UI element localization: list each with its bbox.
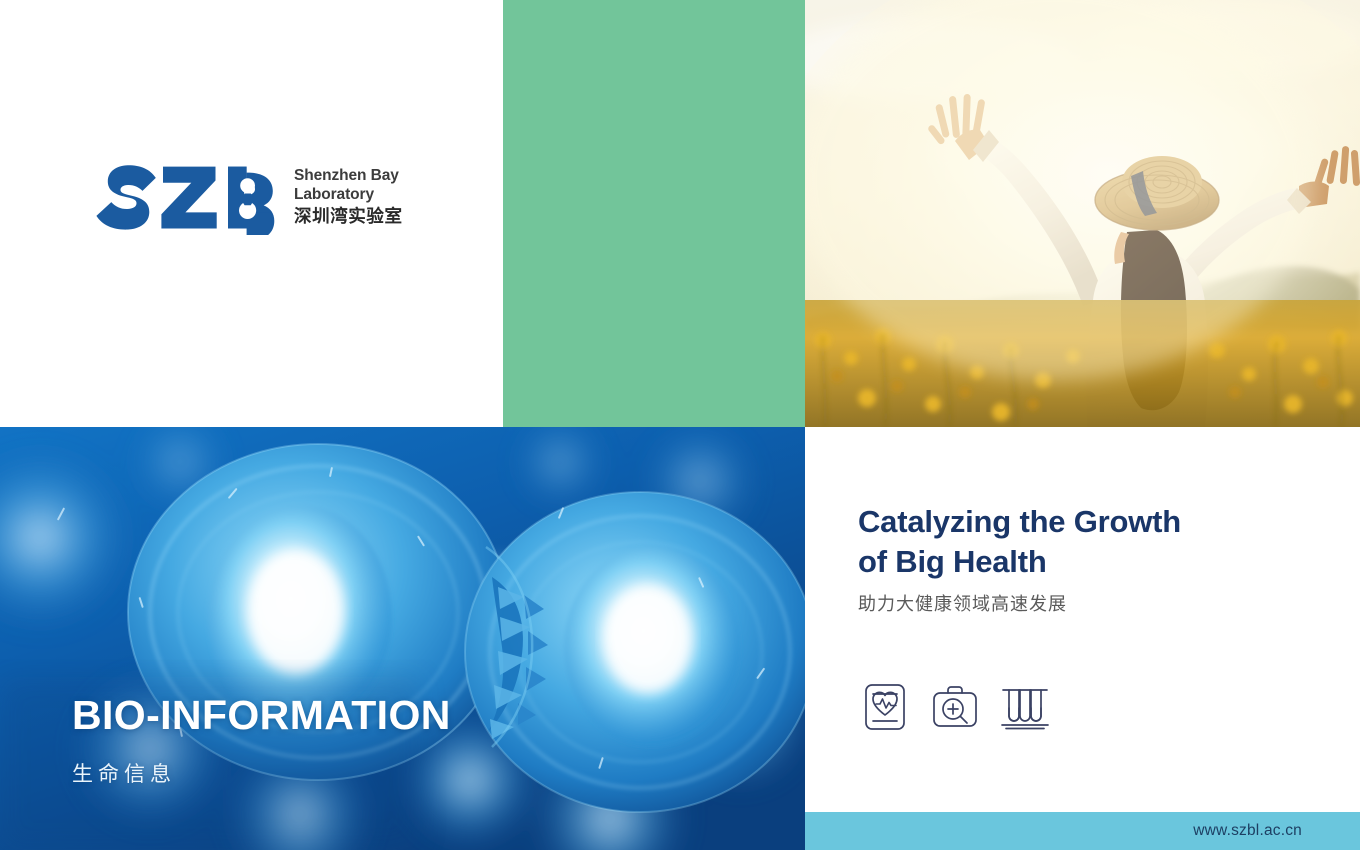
cells-subtitle: 生命信息	[72, 758, 451, 788]
service-icon-row	[858, 680, 1052, 734]
headline-line-2: of Big Health	[858, 542, 1328, 582]
headline-line-1: Catalyzing the Growth	[858, 504, 1181, 539]
subheadline: 助力大健康领域高速发展	[858, 590, 1067, 616]
health-report-heart-icon	[858, 680, 912, 734]
brochure-cover: Shenzhen Bay Laboratory 深圳湾实验室	[0, 0, 1360, 850]
brand-lockup-text: Shenzhen Bay Laboratory 深圳湾实验室	[294, 163, 403, 228]
cell-division-image: BIO-INFORMATION 生命信息	[0, 427, 805, 850]
brand-logo: Shenzhen Bay Laboratory 深圳湾实验室	[88, 163, 403, 235]
cells-caption: BIO-INFORMATION 生命信息	[72, 695, 451, 788]
brand-name-en-line2: Laboratory	[294, 186, 403, 205]
green-color-block	[503, 0, 805, 427]
hero-photo-field	[805, 0, 1360, 427]
medical-kit-search-icon	[928, 680, 982, 734]
website-url[interactable]: www.szbl.ac.cn	[1193, 822, 1302, 840]
footer-url-bar: www.szbl.ac.cn	[805, 812, 1360, 850]
headline: Catalyzing the Growth of Big Health	[858, 502, 1328, 581]
test-tube-rack-icon	[998, 680, 1052, 734]
szbl-wordmark-icon	[88, 163, 276, 235]
brand-name-cn: 深圳湾实验室	[294, 207, 403, 228]
brand-name-en-line1: Shenzhen Bay	[294, 167, 403, 186]
cells-title: BIO-INFORMATION	[72, 695, 451, 736]
message-panel: Catalyzing the Growth of Big Health 助力大健…	[805, 427, 1360, 812]
logo-panel: Shenzhen Bay Laboratory 深圳湾实验室	[0, 0, 503, 427]
